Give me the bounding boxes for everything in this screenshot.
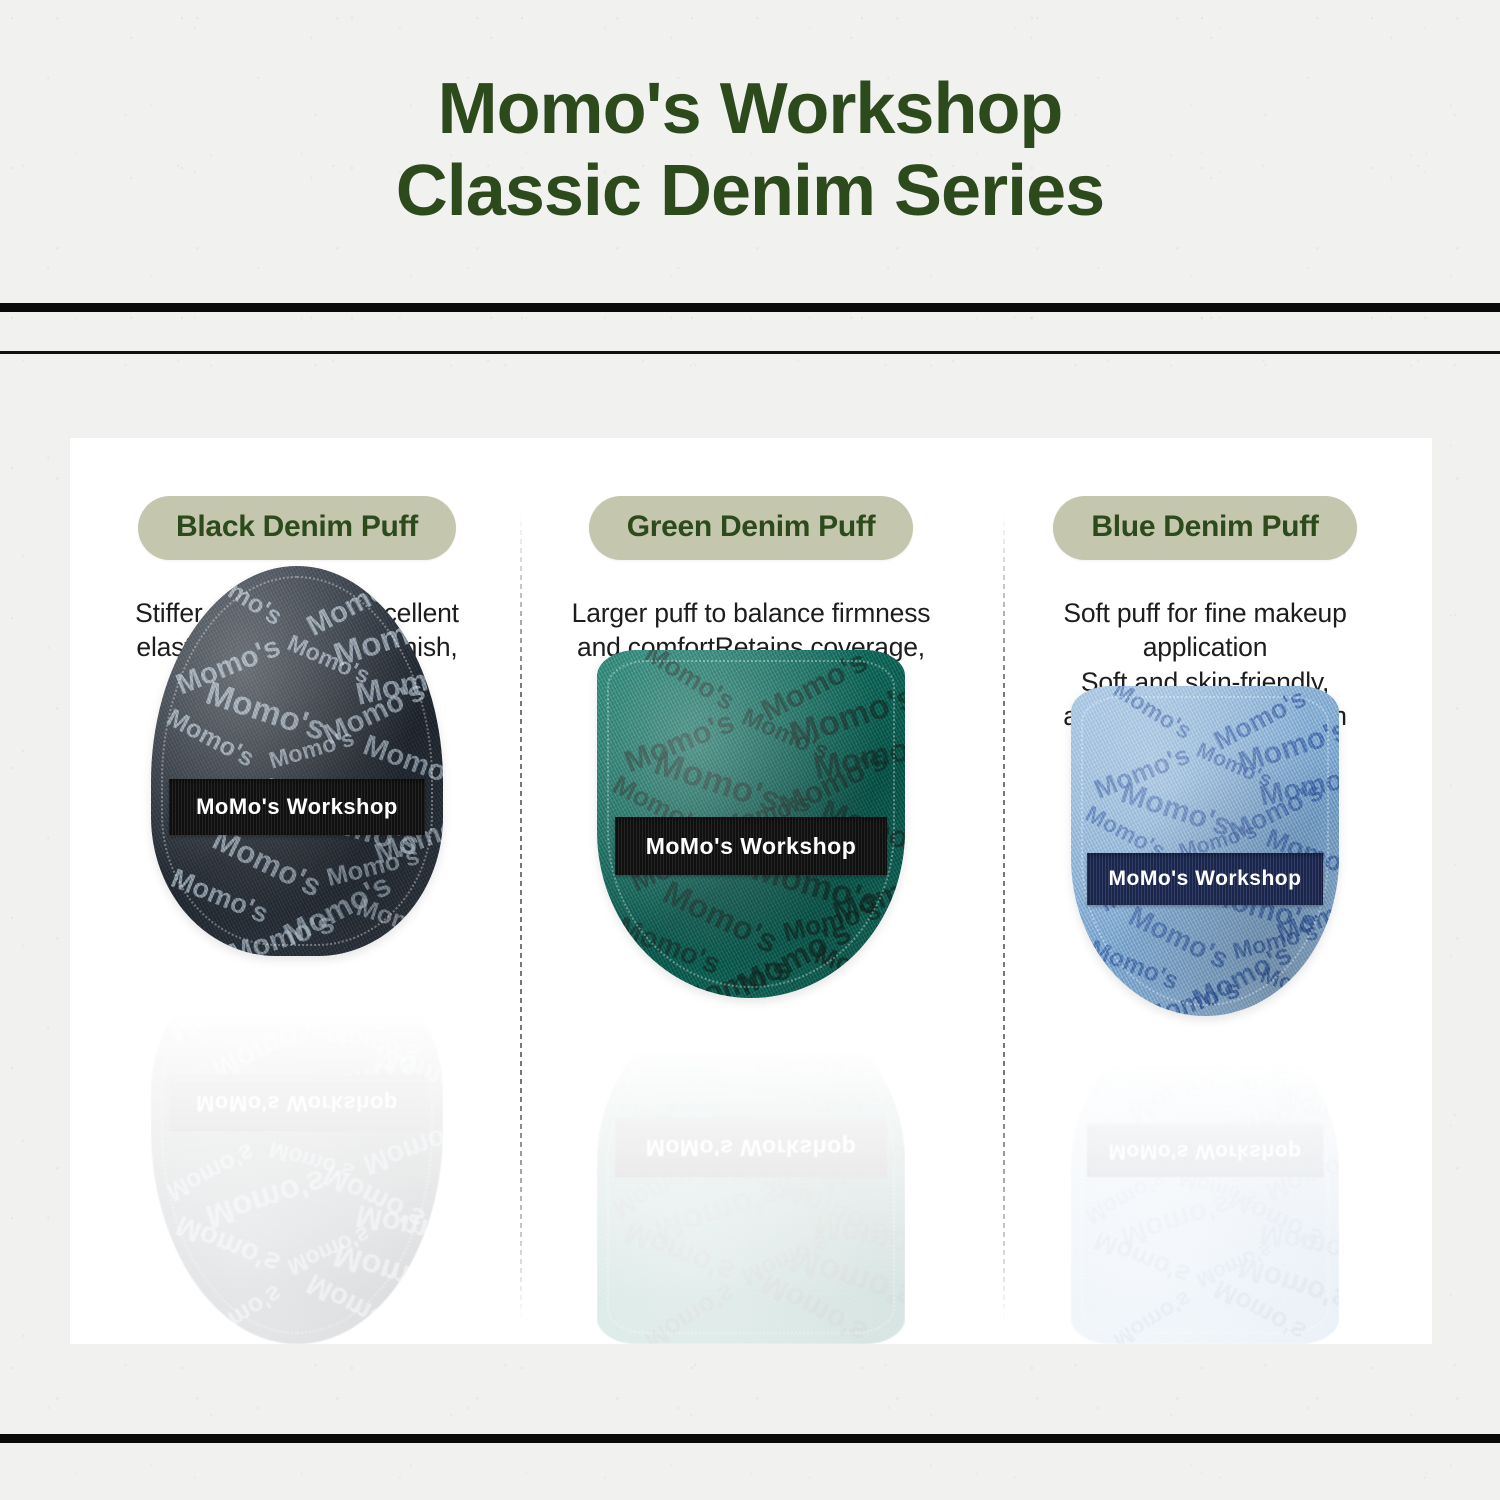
- watermark-text: Momo's: [811, 996, 905, 1052]
- puff-elastic-strap: MoMo's Workshop: [169, 1075, 426, 1131]
- watermark-text: Momo's: [354, 962, 443, 1015]
- watermark-text: Momo's: [780, 1048, 883, 1098]
- watermark-text: Momo's: [173, 1210, 285, 1278]
- watermark-text: Momo's: [614, 1014, 724, 1081]
- watermark-text: Momo's: [658, 1035, 783, 1118]
- watermark-text: Momo's: [719, 1154, 814, 1203]
- watermark-text: Momo's: [1273, 1083, 1339, 1142]
- product-badge[interactable]: Blue Denim Puff: [1053, 496, 1356, 560]
- product-column-3: Blue Denim PuffSoft puff for fine makeup…: [978, 438, 1432, 1344]
- watermark-text: Momo's: [620, 1216, 738, 1288]
- watermark-text: Momo's: [201, 1164, 329, 1234]
- watermark-text: Momo's: [650, 1175, 785, 1249]
- watermark-text: Momo's: [1193, 1238, 1275, 1290]
- watermark-text: Momo's: [1091, 1227, 1194, 1289]
- divider-rule-top-thick: [0, 303, 1500, 312]
- watermark-text: Momo's: [1203, 1091, 1320, 1151]
- puff-reflection-image: Momo'sMomo'sMomo'sMomo'sMomo'sMomo'sMomo…: [597, 996, 905, 1344]
- stitch-seam: [161, 964, 433, 1334]
- watermark-text: Momo's: [811, 1208, 905, 1266]
- puff-reflection: Momo'sMomo'sMomo'sMomo'sMomo'sMomo'sMomo…: [151, 954, 443, 1344]
- watermark-text: Momo's: [360, 1114, 443, 1179]
- product-image-stage: Momo'sMomo'sMomo'sMomo'sMomo'sMomo'sMomo…: [978, 804, 1432, 1344]
- watermark-text: Momo's: [371, 1040, 443, 1105]
- stitch-seam: [1081, 1024, 1329, 1334]
- watermark-text: Momo's: [279, 960, 396, 1042]
- watermark-text: Momo's: [1226, 1184, 1328, 1252]
- watermark-text: Momo's: [817, 1131, 905, 1199]
- description-line: application: [1063, 630, 1347, 664]
- stitch-seam: [607, 1006, 895, 1334]
- product-columns: Black Denim PuffStiffer sponge with exce…: [70, 438, 1432, 1344]
- watermark-text: Momo's: [786, 1241, 905, 1315]
- watermark-text: Momo's: [1262, 1146, 1339, 1205]
- watermark-text: Momo's: [179, 1075, 283, 1141]
- puff-reflection: Momo'sMomo'sMomo'sMomo'sMomo'sMomo'sMomo…: [1071, 1014, 1339, 1344]
- watermark-text: Momo's: [1188, 1015, 1296, 1090]
- puff-shading: [151, 566, 443, 956]
- strap-brand-label: MoMo's Workshop: [646, 1134, 857, 1161]
- header: Momo's Workshop Classic Denim Series: [0, 0, 1500, 300]
- puff-reflection-image: Momo'sMomo'sMomo'sMomo'sMomo'sMomo'sMomo…: [1071, 1014, 1339, 1344]
- puff-product-image[interactable]: Momo'sMomo'sMomo'sMomo'sMomo'sMomo'sMomo…: [1071, 686, 1339, 1016]
- watermark-text: Momo's: [1086, 1035, 1182, 1093]
- watermark-text: Momo's: [1257, 1219, 1339, 1269]
- watermark-text: Momo's: [162, 1138, 257, 1205]
- puff-shading: [1071, 686, 1339, 1016]
- brand-watermark-pattern: Momo'sMomo'sMomo'sMomo'sMomo'sMomo'sMomo…: [597, 996, 905, 1344]
- puff-elastic-strap: MoMo's Workshop: [615, 817, 886, 875]
- strap-brand-label: MoMo's Workshop: [196, 794, 398, 820]
- denim-weave-texture: [1071, 1014, 1339, 1344]
- watermark-text: Momo's: [353, 1200, 443, 1255]
- puff-wrapper: Momo'sMomo'sMomo'sMomo'sMomo'sMomo'sMomo…: [597, 650, 905, 1344]
- puff-elastic-strap: MoMo's Workshop: [1087, 1125, 1323, 1177]
- description-line: Larger puff to balance firmness: [572, 596, 931, 630]
- puff-product-image[interactable]: Momo'sMomo'sMomo'sMomo'sMomo'sMomo'sMomo…: [151, 566, 443, 956]
- strap-brand-label: MoMo's Workshop: [1109, 1139, 1302, 1163]
- product-badge[interactable]: Black Denim Puff: [138, 496, 456, 560]
- page-title: Momo's Workshop Classic Denim Series: [396, 68, 1104, 232]
- watermark-text: Momo's: [1109, 1286, 1195, 1344]
- watermark-text: Momo's: [1235, 1251, 1339, 1315]
- watermark-text: Momo's: [627, 1096, 737, 1166]
- watermark-text: Momo's: [319, 1160, 430, 1234]
- puff-shading: [151, 954, 443, 1344]
- watermark-text: Momo's: [1230, 1066, 1320, 1110]
- watermark-text: Momo's: [167, 983, 272, 1046]
- watermark-text: Momo's: [1117, 1188, 1234, 1252]
- watermark-text: Momo's: [208, 1008, 326, 1087]
- watermark-text: Momo's: [302, 1268, 412, 1344]
- watermark-text: Momo's: [641, 1279, 740, 1344]
- watermark-text: Momo's: [1081, 1166, 1169, 1227]
- watermark-text: Momo's: [609, 1153, 710, 1223]
- watermark-text: Momo's: [1097, 1113, 1193, 1174]
- divider-rule-bottom: [0, 1434, 1500, 1443]
- strap-brand-label: MoMo's Workshop: [196, 1090, 398, 1116]
- product-comparison-card: Black Denim PuffStiffer sponge with exce…: [70, 438, 1432, 1344]
- watermark-text: Momo's: [757, 1267, 873, 1344]
- watermark-text: Momo's: [325, 1019, 423, 1066]
- watermark-text: Momo's: [1210, 1275, 1311, 1344]
- description-line: Soft puff for fine makeup: [1063, 596, 1347, 630]
- product-column-1: Black Denim PuffStiffer sponge with exce…: [70, 438, 524, 1344]
- divider-rule-top-thin: [0, 351, 1500, 354]
- strap-brand-label: MoMo's Workshop: [646, 833, 857, 860]
- denim-weave-texture: [597, 996, 905, 1344]
- puff-elastic-strap: MoMo's Workshop: [1087, 853, 1323, 905]
- watermark-text: Momo's: [330, 1238, 443, 1308]
- watermark-text: Momo's: [266, 1137, 356, 1184]
- watermark-text: Momo's: [295, 1049, 423, 1115]
- watermark-text: Momo's: [1177, 1167, 1260, 1210]
- watermark-text: Momo's: [675, 996, 794, 1041]
- watermark-text: Momo's: [775, 1171, 892, 1249]
- puff-shading: [1071, 1014, 1339, 1344]
- puff-wrapper: Momo'sMomo'sMomo'sMomo'sMomo'sMomo'sMomo…: [151, 566, 443, 1344]
- denim-weave-texture: [151, 954, 443, 1344]
- watermark-text: Momo's: [225, 954, 338, 1001]
- puff-reflection: Momo'sMomo'sMomo'sMomo'sMomo'sMomo'sMomo…: [597, 996, 905, 1344]
- puff-wrapper: Momo'sMomo'sMomo'sMomo'sMomo'sMomo'sMomo…: [1071, 686, 1339, 1344]
- watermark-text: Momo's: [738, 1229, 832, 1289]
- puff-product-image[interactable]: Momo'sMomo'sMomo'sMomo'sMomo'sMomo'sMomo…: [597, 650, 905, 998]
- strap-brand-label: MoMo's Workshop: [1109, 867, 1302, 891]
- puff-elastic-strap: MoMo's Workshop: [169, 779, 426, 835]
- puff-shading: [597, 996, 905, 1344]
- product-image-stage: Momo'sMomo'sMomo'sMomo'sMomo'sMomo'sMomo…: [524, 804, 978, 1344]
- watermark-text: Momo's: [1257, 1018, 1339, 1067]
- product-image-stage: Momo'sMomo'sMomo'sMomo'sMomo'sMomo'sMomo…: [70, 804, 524, 1344]
- product-column-2: Green Denim PuffLarger puff to balance f…: [524, 438, 978, 1344]
- title-line-1: Momo's Workshop: [396, 68, 1104, 150]
- watermark-text: Momo's: [732, 996, 856, 1079]
- brand-watermark-pattern: Momo'sMomo'sMomo'sMomo'sMomo'sMomo'sMomo…: [1071, 1014, 1339, 1344]
- product-badge[interactable]: Green Denim Puff: [589, 496, 914, 560]
- watermark-text: Momo's: [284, 1222, 373, 1279]
- watermark-text: Momo's: [192, 1280, 286, 1344]
- watermark-text: Momo's: [1139, 1014, 1243, 1055]
- puff-reflection-image: Momo'sMomo'sMomo'sMomo'sMomo'sMomo'sMomo…: [151, 954, 443, 1344]
- title-line-2: Classic Denim Series: [396, 150, 1104, 232]
- watermark-text: Momo's: [829, 1065, 905, 1133]
- puff-elastic-strap: MoMo's Workshop: [615, 1119, 886, 1177]
- watermark-text: Momo's: [749, 1073, 884, 1143]
- watermark-text: Momo's: [1124, 1056, 1233, 1129]
- brand-watermark-pattern: Momo'sMomo'sMomo'sMomo'sMomo'sMomo'sMomo…: [151, 954, 443, 1344]
